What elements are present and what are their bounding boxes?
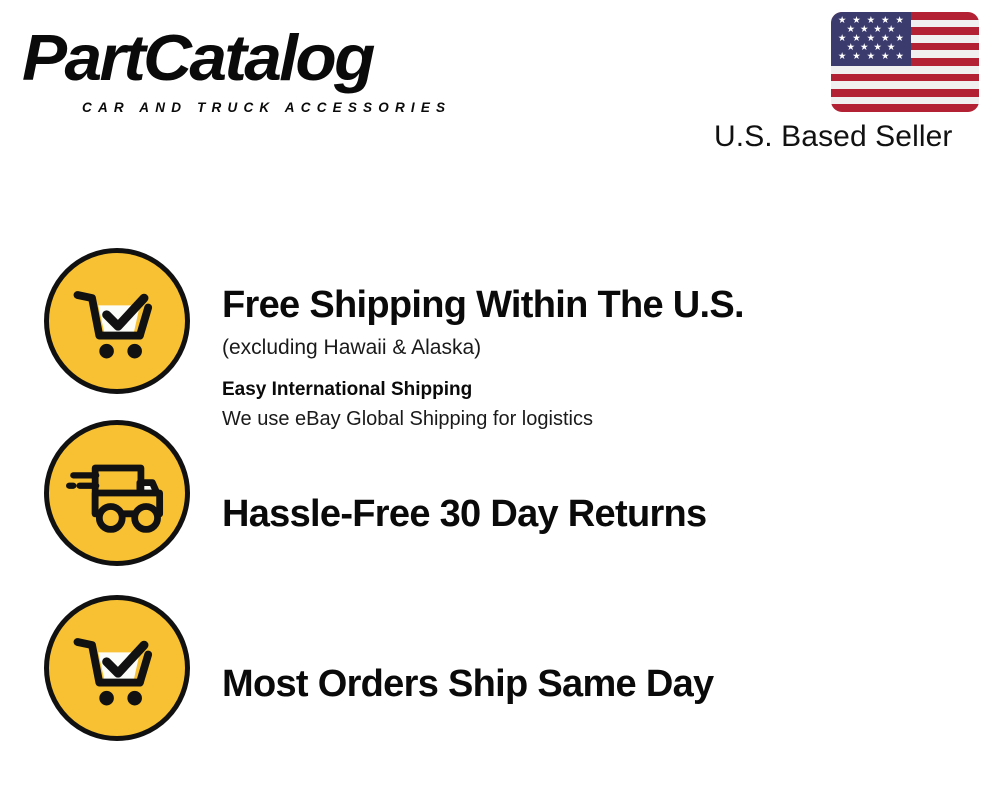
delivery-truck-icon xyxy=(44,420,190,566)
flag-star: ★ xyxy=(838,52,847,62)
shopping-cart-check-icon xyxy=(44,248,190,394)
flag-star: ★ xyxy=(838,34,847,44)
feature-title: Most Orders Ship Same Day xyxy=(222,662,980,706)
feature-item-returns: Hassle-Free 30 Day Returns xyxy=(0,410,1000,582)
flag-stripe xyxy=(831,66,979,74)
brand-logo[interactable]: PartCatalog CAR AND TRUCK ACCESSORIES xyxy=(22,22,492,117)
flag-stripe xyxy=(831,97,979,105)
feature-secondary-title: Easy International Shipping xyxy=(222,376,980,404)
feature-title: Free Shipping Within The U.S. xyxy=(222,283,980,327)
feature-text-block: Hassle-Free 30 Day Returns xyxy=(222,492,980,536)
feature-icon-wrapper xyxy=(44,248,190,394)
feature-icon-wrapper xyxy=(44,420,190,566)
flag-star-row: ★ ★ ★ ★ ★ xyxy=(831,52,911,61)
flag-star-row: ★ ★ ★ ★ ★ xyxy=(831,34,911,43)
us-based-seller-badge: ★ ★ ★ ★ ★ ★ ★ ★ ★ ★ ★ ★ ★ ★ xyxy=(702,8,992,158)
flag-star-row: ★ ★ ★ ★ ★ xyxy=(831,16,911,25)
feature-icon-wrapper xyxy=(44,595,190,741)
feature-text-block: Most Orders Ship Same Day xyxy=(222,662,980,706)
flag-star: ★ xyxy=(895,16,904,26)
flag-stripe xyxy=(831,81,979,89)
flag-stripe xyxy=(831,74,979,82)
flag-stripe xyxy=(831,104,979,112)
feature-item-free-shipping: Free Shipping Within The U.S. (excluding… xyxy=(0,235,1000,410)
us-flag-icon: ★ ★ ★ ★ ★ ★ ★ ★ ★ ★ ★ ★ ★ ★ xyxy=(831,12,979,112)
flag-canton: ★ ★ ★ ★ ★ ★ ★ ★ ★ ★ ★ ★ ★ ★ xyxy=(831,12,911,66)
feature-title: Hassle-Free 30 Day Returns xyxy=(222,492,980,536)
flag-star: ★ xyxy=(852,52,861,62)
brand-wordmark: PartCatalog xyxy=(22,22,373,94)
flag-stripe xyxy=(831,89,979,97)
brand-tagline: CAR AND TRUCK ACCESSORIES xyxy=(82,100,451,115)
flag-star: ★ xyxy=(867,52,876,62)
flag-star: ★ xyxy=(895,34,904,44)
page-header: PartCatalog CAR AND TRUCK ACCESSORIES ★ … xyxy=(0,0,1000,175)
us-based-seller-label: U.S. Based Seller xyxy=(714,120,952,154)
shopping-cart-check-icon xyxy=(44,595,190,741)
feature-item-same-day-ship: Most Orders Ship Same Day xyxy=(0,582,1000,757)
flag-star: ★ xyxy=(881,52,890,62)
flag-star: ★ xyxy=(838,16,847,26)
flag-star: ★ xyxy=(895,52,904,62)
feature-subtitle: (excluding Hawaii & Alaska) xyxy=(222,333,980,363)
